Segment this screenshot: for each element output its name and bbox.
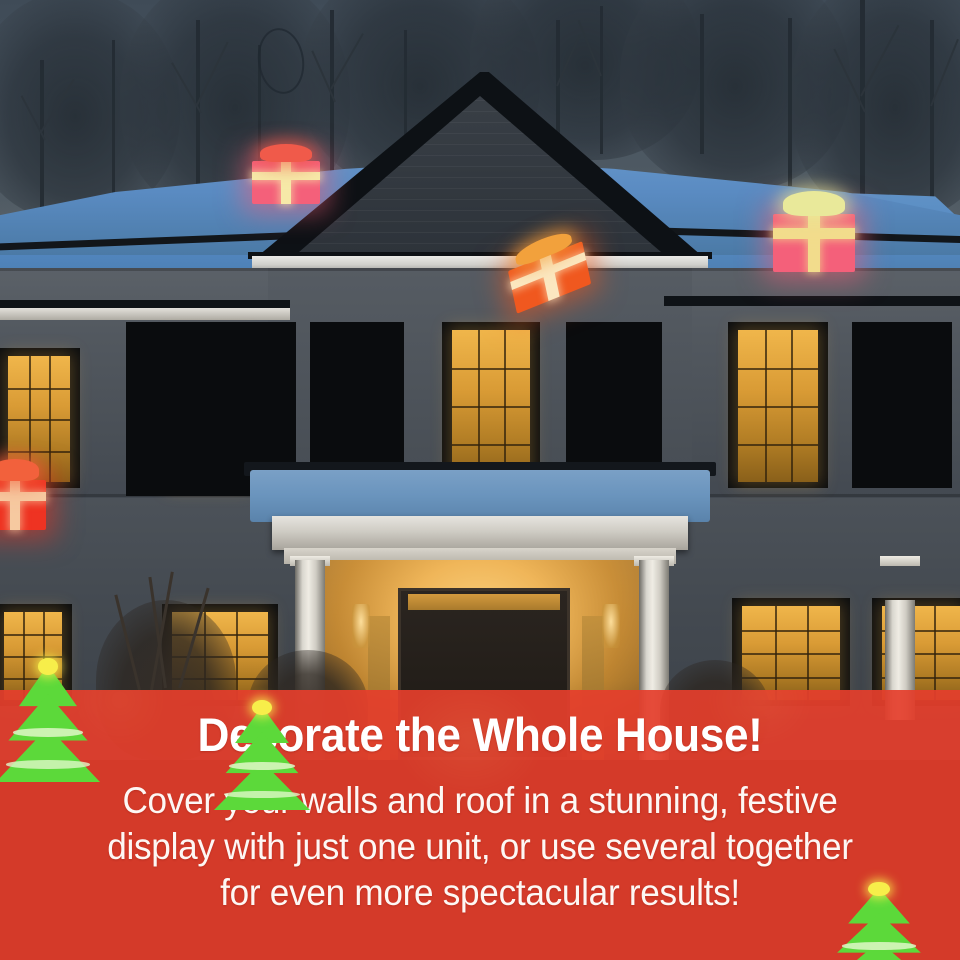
window-muntin <box>738 444 818 446</box>
tree-garland <box>6 760 89 769</box>
banner-body-line-2: display with just one unit, or use sever… <box>39 824 921 870</box>
projection-gift-pink-left-roof <box>252 146 320 204</box>
projection-tree-right-upper <box>824 884 934 960</box>
gift-ribbon-horizontal <box>0 492 46 502</box>
window-muntin <box>4 634 62 636</box>
sconce-left <box>352 604 370 648</box>
projection-gift-pink-right-roof <box>773 194 855 272</box>
gift-ribbon-vertical <box>808 214 820 272</box>
gift-ribbon-horizontal <box>773 228 855 239</box>
window-muntin <box>452 444 530 446</box>
window-muntin <box>8 419 70 421</box>
window-win-upper-far-right <box>852 322 952 488</box>
gift-ribbon-vertical <box>281 161 291 204</box>
banner-body-line-1: Cover your walls and roof in a stunning,… <box>39 778 921 824</box>
window-muntin <box>452 406 530 408</box>
promo-banner: Decorate the Whole House! Cover your wal… <box>0 690 960 960</box>
window-muntin <box>738 368 818 370</box>
portico-entablature <box>272 516 688 550</box>
tree-star <box>38 658 59 675</box>
window-muntin <box>8 388 70 390</box>
projection-gift-red-far-left <box>0 462 46 530</box>
gift-box-body <box>0 480 46 530</box>
window-muntin <box>4 656 62 658</box>
gift-ribbon-horizontal <box>252 172 320 180</box>
door-transom <box>408 594 560 610</box>
banner-body-line-3: for even more spectacular results! <box>39 870 921 916</box>
window-muntin <box>738 406 818 408</box>
projection-tree-left-window <box>0 660 100 782</box>
gift-ribbon-vertical <box>10 480 19 530</box>
window-muntin <box>742 653 840 655</box>
tree-star <box>252 700 271 715</box>
projection-tree-left-upper <box>214 702 310 810</box>
window-muntin <box>742 630 840 632</box>
house <box>0 0 960 760</box>
tree-star <box>868 882 890 897</box>
tree-garland <box>229 762 294 770</box>
tree-garland <box>13 728 84 737</box>
banner-headline: Decorate the Whole House! <box>29 707 931 763</box>
gift-bow <box>260 144 312 163</box>
sconce-right <box>602 604 620 648</box>
gift-bow <box>0 459 39 481</box>
banner-body-copy: Cover your walls and roof in a stunning,… <box>39 778 921 916</box>
gift-bow <box>783 191 845 216</box>
portico-roof-snow <box>250 470 710 522</box>
tree-garland <box>224 791 301 799</box>
window-muntin <box>452 368 530 370</box>
promo-image: Decorate the Whole House! Cover your wal… <box>0 0 960 960</box>
tree-garland <box>842 942 917 949</box>
window-muntin <box>8 451 70 453</box>
